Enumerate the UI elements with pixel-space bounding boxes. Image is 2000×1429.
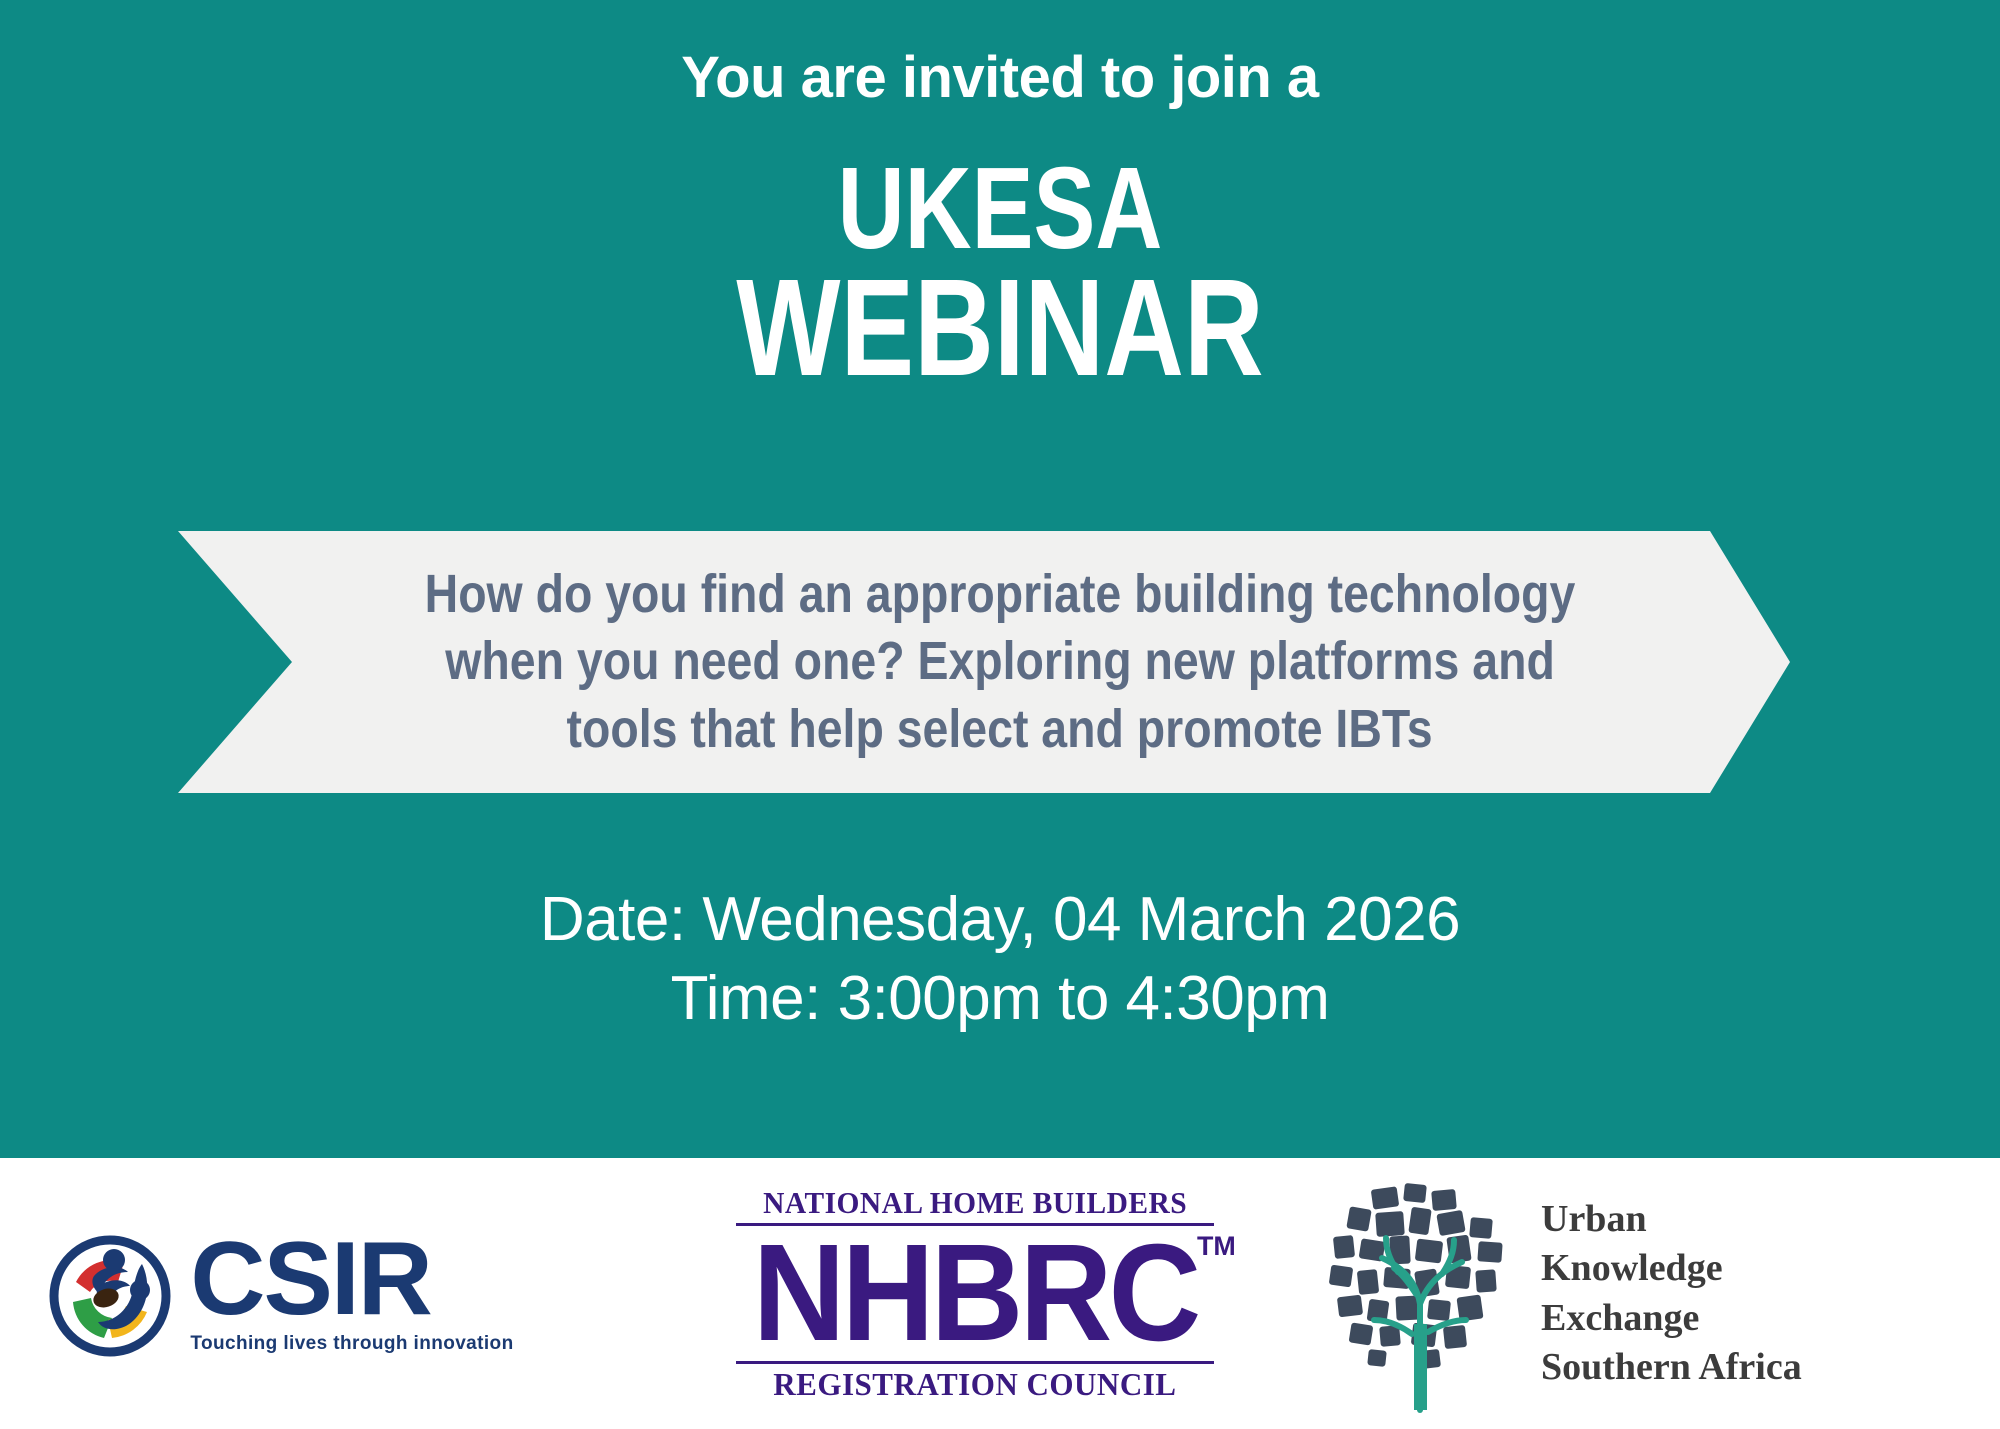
nhbrc-top-text: NATIONAL HOME BUILDERS	[763, 1187, 1187, 1218]
ukesa-line-2: Knowledge	[1541, 1244, 1802, 1293]
nhbrc-logo: NATIONAL HOME BUILDERS NHBRC TM REGISTRA…	[540, 1158, 1180, 1429]
banner-line-1: How do you find an appropriate building …	[425, 561, 1576, 629]
topic-banner: How do you find an appropriate building …	[0, 531, 2000, 793]
footer-logo-strip: CSIR Touching lives through innovation N…	[0, 1158, 2000, 1429]
nhbrc-acronym: NHBRC	[753, 1216, 1198, 1370]
invite-line: You are invited to join a	[0, 48, 2000, 109]
title-line-ukesa: UKESA	[200, 150, 1800, 266]
webinar-invitation-poster: You are invited to join a UKESA WEBINAR …	[0, 0, 2000, 1429]
ukesa-line-4: Southern Africa	[1541, 1343, 1802, 1392]
csir-emblem-icon	[46, 1230, 174, 1358]
ukesa-line-1: Urban	[1541, 1195, 1802, 1244]
title-line-webinar: WEBINAR	[200, 262, 1800, 394]
mosaic-tree-icon	[1320, 1174, 1535, 1414]
csir-tagline: Touching lives through innovation	[190, 1333, 513, 1355]
banner-line-2: when you need one? Exploring new platfor…	[445, 628, 1555, 696]
banner-text: How do you find an appropriate building …	[310, 531, 1690, 793]
banner-line-3: tools that help select and promote IBTs	[567, 696, 1433, 764]
event-date: Date: Wednesday, 04 March 2026	[0, 880, 2000, 959]
page-title: UKESA WEBINAR	[0, 150, 2000, 394]
csir-logo: CSIR Touching lives through innovation	[0, 1158, 540, 1429]
csir-wordmark: CSIR	[190, 1232, 513, 1328]
ukesa-wordmark: Urban Knowledge Exchange Southern Africa	[1541, 1195, 1802, 1393]
nhbrc-bottom-text: REGISTRATION COUNCIL	[773, 1368, 1176, 1400]
ukesa-logo: Urban Knowledge Exchange Southern Africa	[1180, 1158, 2000, 1429]
ukesa-line-3: Exchange	[1541, 1294, 1802, 1343]
event-details: Date: Wednesday, 04 March 2026 Time: 3:0…	[0, 880, 2000, 1039]
event-time: Time: 3:00pm to 4:30pm	[0, 959, 2000, 1038]
nhbrc-trademark: TM	[1197, 1234, 1236, 1259]
